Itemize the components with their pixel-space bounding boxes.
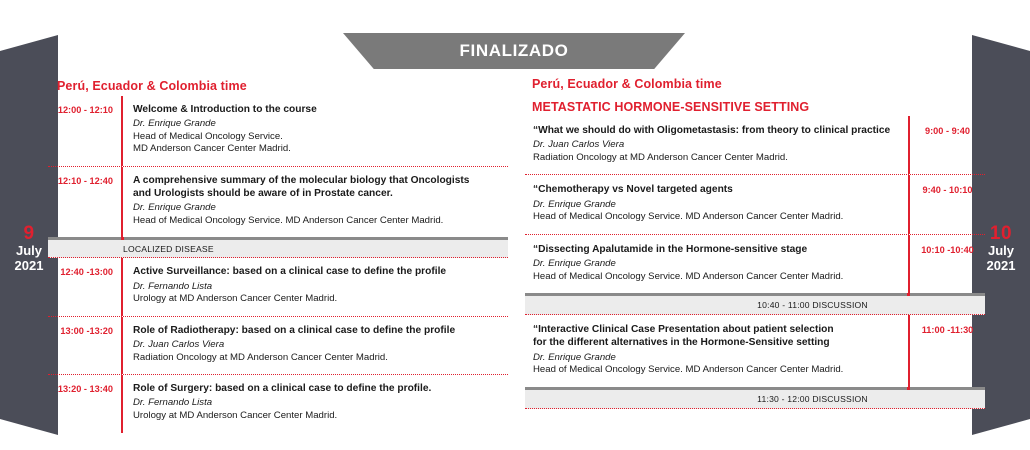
agenda-affiliation: Urology at MD Anderson Cancer Center Mad… — [133, 293, 508, 305]
agenda-affiliation: Head of Medical Oncology Service. MD And… — [133, 215, 508, 227]
agenda-time: 12:10 - 12:40 — [48, 167, 121, 186]
agenda-title: “Chemotherapy vs Novel targeted agents — [533, 183, 899, 196]
agenda-row[interactable]: 12:40 -13:00 Active Surveillance: based … — [48, 258, 508, 315]
agenda-title: A comprehensive summary of the molecular… — [133, 174, 508, 187]
agenda-speaker: Dr. Enrique Grande — [533, 352, 899, 365]
red-rule-tick — [907, 387, 910, 390]
agenda-affiliation: Radiation Oncology at MD Anderson Cancer… — [533, 152, 899, 164]
agenda-title: Welcome & Introduction to the course — [133, 103, 508, 116]
agenda-body: “Chemotherapy vs Novel targeted agents D… — [525, 175, 910, 233]
agenda-row[interactable]: “What we should do with Oligometastasis:… — [525, 116, 985, 174]
red-rule-tick — [121, 237, 124, 240]
agenda-speaker: Dr. Enrique Grande — [133, 202, 508, 215]
agenda-page: 9 July 2021 10 July 2021 FINALIZADO Perú… — [0, 0, 1030, 450]
agenda-time: 12:40 -13:00 — [48, 258, 121, 277]
agenda-affiliation: Head of Medical Oncology Service. MD And… — [533, 364, 899, 376]
agenda-speaker: Dr. Juan Carlos Viera — [133, 339, 508, 352]
discussion-label: 11:30 - 12:00 DISCUSSION — [525, 394, 985, 404]
discussion-bar: 10:40 - 11:00 DISCUSSION — [525, 293, 985, 315]
right-timezone-title: Perú, Ecuador & Colombia time — [532, 77, 722, 91]
agenda-time: 9:00 - 9:40 — [910, 116, 985, 136]
status-banner-label: FINALIZADO — [460, 41, 569, 61]
agenda-body: Welcome & Introduction to the course Dr.… — [121, 96, 508, 166]
agenda-body: “Interactive Clinical Case Presentation … — [525, 315, 910, 387]
agenda-affiliation: Urology at MD Anderson Cancer Center Mad… — [133, 410, 508, 422]
agenda-time: 11:00 -11:30 — [910, 315, 985, 335]
agenda-speaker: Dr. Fernando Lista — [133, 281, 508, 294]
agenda-title: Role of Radiotherapy: based on a clinica… — [133, 324, 508, 337]
agenda-row[interactable]: “Interactive Clinical Case Presentation … — [525, 315, 985, 387]
agenda-row[interactable]: 12:00 - 12:10 Welcome & Introduction to … — [48, 96, 508, 166]
right-section-title: METASTATIC HORMONE-SENSITIVE SETTING — [532, 100, 809, 114]
agenda-affiliation: Radiation Oncology at MD Anderson Cancer… — [133, 352, 508, 364]
agenda-speaker: Dr. Enrique Grande — [533, 199, 899, 212]
agenda-row[interactable]: “Dissecting Apalutamide in the Hormone-s… — [525, 234, 985, 293]
discussion-bar: 11:30 - 12:00 DISCUSSION — [525, 387, 985, 409]
agenda-speaker: Dr. Juan Carlos Viera — [533, 139, 899, 152]
agenda-time: 9:40 - 10:10 — [910, 175, 985, 195]
status-banner: FINALIZADO — [343, 33, 685, 69]
left-agenda-list: 12:00 - 12:10 Welcome & Introduction to … — [48, 96, 508, 433]
agenda-title: Active Surveillance: based on a clinical… — [133, 265, 508, 278]
agenda-speaker: Dr. Fernando Lista — [133, 397, 508, 410]
agenda-time: 12:00 - 12:10 — [48, 96, 121, 115]
agenda-affiliation-2: MD Anderson Cancer Center Madrid. — [133, 143, 508, 155]
agenda-row[interactable]: 13:00 -13:20 Role of Radiotherapy: based… — [48, 316, 508, 374]
agenda-body: “Dissecting Apalutamide in the Hormone-s… — [525, 235, 910, 293]
red-rule-tick — [907, 293, 910, 296]
agenda-body: Role of Radiotherapy: based on a clinica… — [121, 317, 508, 374]
agenda-title: Role of Surgery: based on a clinical cas… — [133, 382, 508, 395]
agenda-time: 13:00 -13:20 — [48, 317, 121, 336]
agenda-title: “Interactive Clinical Case Presentation … — [533, 323, 899, 336]
agenda-row[interactable]: “Chemotherapy vs Novel targeted agents D… — [525, 174, 985, 233]
agenda-affiliation: Head of Medical Oncology Service. — [133, 131, 508, 143]
agenda-speaker: Dr. Enrique Grande — [533, 258, 899, 271]
agenda-title-2: for the different alternatives in the Ho… — [533, 336, 899, 349]
agenda-row[interactable]: 12:10 - 12:40 A comprehensive summary of… — [48, 166, 508, 238]
agenda-body: A comprehensive summary of the molecular… — [121, 167, 508, 238]
agenda-title: “Dissecting Apalutamide in the Hormone-s… — [533, 243, 899, 256]
left-timezone-title: Perú, Ecuador & Colombia time — [57, 79, 247, 93]
agenda-body: Role of Surgery: based on a clinical cas… — [121, 375, 508, 432]
discussion-label: 10:40 - 11:00 DISCUSSION — [525, 300, 985, 310]
agenda-affiliation: Head of Medical Oncology Service. MD And… — [533, 211, 899, 223]
agenda-speaker: Dr. Enrique Grande — [133, 118, 508, 131]
agenda-body: Active Surveillance: based on a clinical… — [121, 258, 508, 315]
right-agenda-list: “What we should do with Oligometastasis:… — [525, 116, 985, 409]
agenda-body: “What we should do with Oligometastasis:… — [525, 116, 910, 174]
agenda-title: “What we should do with Oligometastasis:… — [533, 124, 899, 137]
agenda-row[interactable]: 13:20 - 13:40 Role of Surgery: based on … — [48, 374, 508, 432]
section-header-localized-disease: LOCALIZED DISEASE — [48, 237, 508, 258]
section-header-label: LOCALIZED DISEASE — [123, 244, 214, 254]
agenda-title-2: and Urologists should be aware of in Pro… — [133, 187, 508, 200]
agenda-affiliation: Head of Medical Oncology Service. MD And… — [533, 271, 899, 283]
agenda-time: 10:10 -10:40 — [910, 235, 985, 255]
agenda-time: 13:20 - 13:40 — [48, 375, 121, 394]
